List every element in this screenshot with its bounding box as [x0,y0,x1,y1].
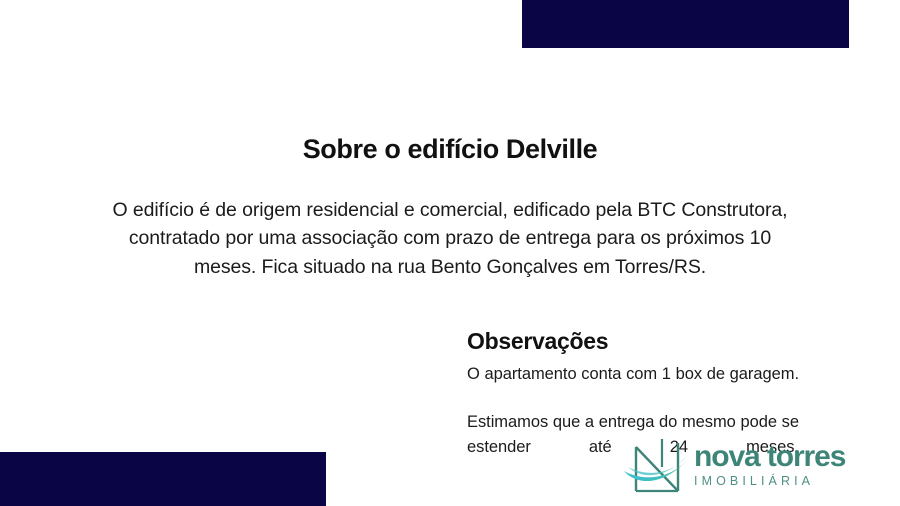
navy-bar-bottom [0,452,326,506]
logo-wordmark: nova torres IMOBILIÁRIA [694,441,894,489]
nova-torres-logo: nova torres IMOBILIÁRIA [622,437,892,503]
intro-paragraph: O edifício é de origem residencial e com… [105,196,795,282]
observations-title: Observações [467,328,799,356]
observations-line-1: O apartamento conta com 1 box de garagem… [467,362,799,411]
nova-torres-n-monogram-icon [622,437,700,501]
page-title: Sobre o edifício Delville [0,133,900,167]
navy-bar-top [522,0,849,48]
slide-canvas: Sobre o edifício Delville O edifício é d… [0,0,900,506]
logo-subtitle: IMOBILIÁRIA [694,474,894,489]
logo-name: nova torres [694,441,894,473]
